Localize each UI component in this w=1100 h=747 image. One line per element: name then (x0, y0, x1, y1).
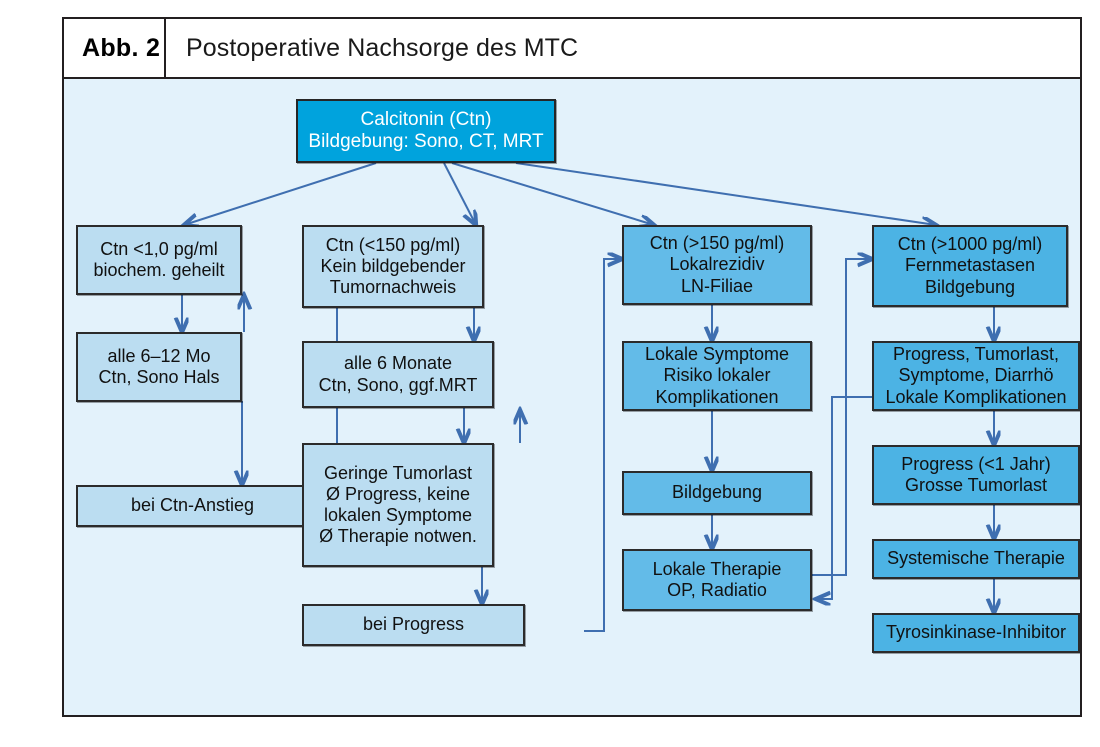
node-local-symptoms-line-1: Lokale Symptome (645, 344, 789, 365)
node-systemic-therapy-line-1: Systemische Therapie (887, 548, 1065, 569)
node-ctn-over-1000-line-2: Fernmetastasen (905, 255, 1035, 276)
diagram-canvas: Calcitonin (Ctn) Bildgebung: Sono, CT, M… (64, 79, 1080, 715)
figure-frame: Abb. 2 Postoperative Nachsorge des MTC (62, 17, 1082, 717)
figure-root: Quelle: Raue Abb. 2 Postoperative Nachso… (0, 0, 1100, 747)
node-on-progress-line-1: bei Progress (363, 614, 464, 635)
node-root[interactable]: Calcitonin (Ctn) Bildgebung: Sono, CT, M… (296, 99, 556, 163)
figure-number: Abb. 2 (64, 19, 164, 77)
node-ctn-over-1000[interactable]: Ctn (>1000 pg/ml) Fernmetastasen Bildgeb… (872, 225, 1068, 307)
node-progress-1y-line-2: Grosse Tumorlast (905, 475, 1047, 496)
node-progress-factors[interactable]: Progress, Tumorlast, Symptome, Diarrhö L… (872, 341, 1080, 411)
node-local-symptoms-line-3: Komplikationen (655, 387, 778, 408)
node-low-burden-line-4: Ø Therapie notwen. (319, 526, 477, 547)
node-progress-factors-line-2: Symptome, Diarrhö (898, 365, 1053, 386)
node-ctn-low-line-1: Ctn <1,0 pg/ml (100, 239, 218, 260)
node-ctn-under-150[interactable]: Ctn (<150 pg/ml) Kein bildgebender Tumor… (302, 225, 484, 308)
node-on-progress[interactable]: bei Progress (302, 604, 525, 646)
edge-root-c2 (444, 163, 476, 225)
node-root-line-2: Bildgebung: Sono, CT, MRT (308, 131, 543, 153)
node-imaging[interactable]: Bildgebung (622, 471, 812, 515)
node-low-burden-line-3: lokalen Symptome (324, 505, 472, 526)
node-ctn-over-150-line-3: LN-Filiae (681, 276, 753, 297)
node-ctn-over-1000-line-3: Bildgebung (925, 277, 1015, 298)
node-followup6-line-1: alle 6 Monate (344, 353, 452, 374)
node-imaging-line-1: Bildgebung (672, 482, 762, 503)
node-tki-line-1: Tyrosinkinase-Inhibitor (886, 622, 1066, 643)
node-low-burden-line-2: Ø Progress, keine (326, 484, 470, 505)
node-systemic-therapy[interactable]: Systemische Therapie (872, 539, 1080, 579)
node-followup-6-months[interactable]: alle 6 Monate Ctn, Sono, ggf.MRT (302, 341, 494, 408)
node-ctn-over-150-line-2: Lokalrezidiv (669, 254, 764, 275)
node-ctn-rise[interactable]: bei Ctn-Anstieg (76, 485, 309, 527)
edge-root-c4 (516, 163, 936, 225)
figure-title: Postoperative Nachsorge des MTC (166, 34, 1080, 63)
node-followup-6-12-months[interactable]: alle 6–12 Mo Ctn, Sono Hals (76, 332, 242, 402)
node-tyrosine-kinase-inhibitor[interactable]: Tyrosinkinase-Inhibitor (872, 613, 1080, 653)
node-followup-line-2: Ctn, Sono Hals (98, 367, 219, 388)
node-local-therapy-line-1: Lokale Therapie (653, 559, 782, 580)
node-ctn-under-150-line-2: Kein bildgebender (320, 256, 465, 277)
node-ctn-over-1000-line-1: Ctn (>1000 pg/ml) (898, 234, 1043, 255)
node-ctn-under-150-line-3: Tumornachweis (330, 277, 456, 298)
node-local-therapy-line-2: OP, Radiatio (667, 580, 767, 601)
edge-c4n2-c3n4 (816, 397, 872, 599)
node-progress-under-1-year[interactable]: Progress (<1 Jahr) Grosse Tumorlast (872, 445, 1080, 505)
node-ctn-under-150-line-1: Ctn (<150 pg/ml) (326, 235, 461, 256)
figure-header: Abb. 2 Postoperative Nachsorge des MTC (64, 19, 1080, 79)
node-ctn-over-150-line-1: Ctn (>150 pg/ml) (650, 233, 785, 254)
node-ctn-low-line-2: biochem. geheilt (93, 260, 224, 281)
node-low-burden-line-1: Geringe Tumorlast (324, 463, 472, 484)
edge-root-c1 (184, 163, 376, 225)
node-progress-1y-line-1: Progress (<1 Jahr) (901, 454, 1051, 475)
node-followup6-line-2: Ctn, Sono, ggf.MRT (319, 375, 478, 396)
node-ctn-over-150[interactable]: Ctn (>150 pg/ml) Lokalrezidiv LN-Filiae (622, 225, 812, 305)
node-progress-factors-line-3: Lokale Komplikationen (885, 387, 1066, 408)
edge-c3n4-c4n1 (812, 259, 872, 575)
node-ctn-rise-line-1: bei Ctn-Anstieg (131, 495, 254, 516)
node-local-therapy[interactable]: Lokale Therapie OP, Radiatio (622, 549, 812, 611)
node-root-line-1: Calcitonin (Ctn) (361, 109, 492, 131)
edge-root-c3 (452, 163, 654, 225)
node-progress-factors-line-1: Progress, Tumorlast, (893, 344, 1059, 365)
node-local-symptoms[interactable]: Lokale Symptome Risiko lokaler Komplikat… (622, 341, 812, 411)
node-local-symptoms-line-2: Risiko lokaler (663, 365, 770, 386)
edge-c2n4-c3n1 (584, 259, 622, 631)
node-followup-line-1: alle 6–12 Mo (107, 346, 210, 367)
node-low-tumor-burden[interactable]: Geringe Tumorlast Ø Progress, keine loka… (302, 443, 494, 567)
node-ctn-low[interactable]: Ctn <1,0 pg/ml biochem. geheilt (76, 225, 242, 295)
